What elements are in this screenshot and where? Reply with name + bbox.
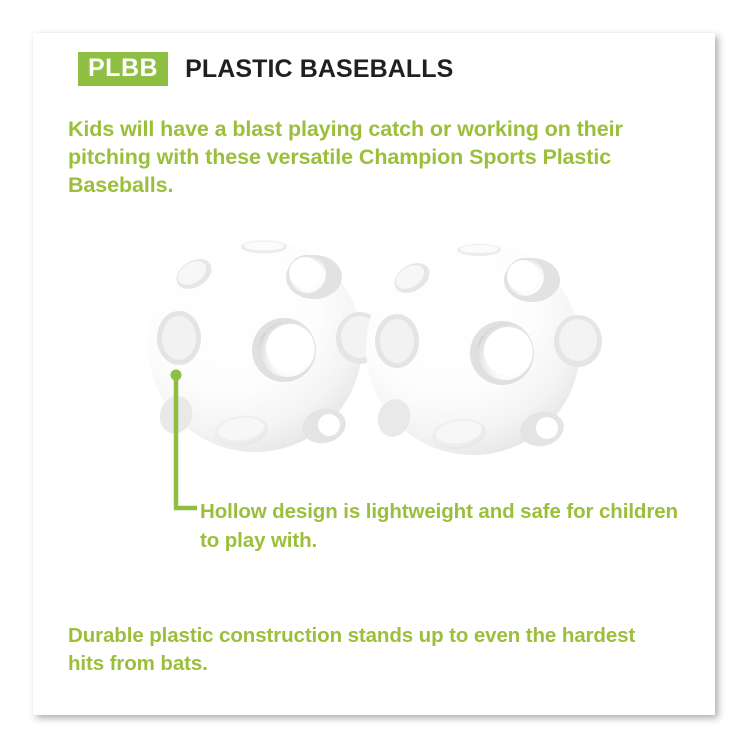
- baseball-left: [148, 238, 384, 463]
- product-image: [33, 33, 715, 715]
- baseball-right: [366, 241, 602, 466]
- baseballs-illustration: [33, 33, 715, 715]
- callout-hollow-design: Hollow design is lightweight and safe fo…: [200, 497, 700, 555]
- infographic-root: PLBB PLASTIC BASEBALLS Kids will have a …: [0, 0, 750, 750]
- product-card: PLBB PLASTIC BASEBALLS Kids will have a …: [33, 33, 715, 715]
- feature-durable-construction: Durable plastic construction stands up t…: [68, 622, 668, 678]
